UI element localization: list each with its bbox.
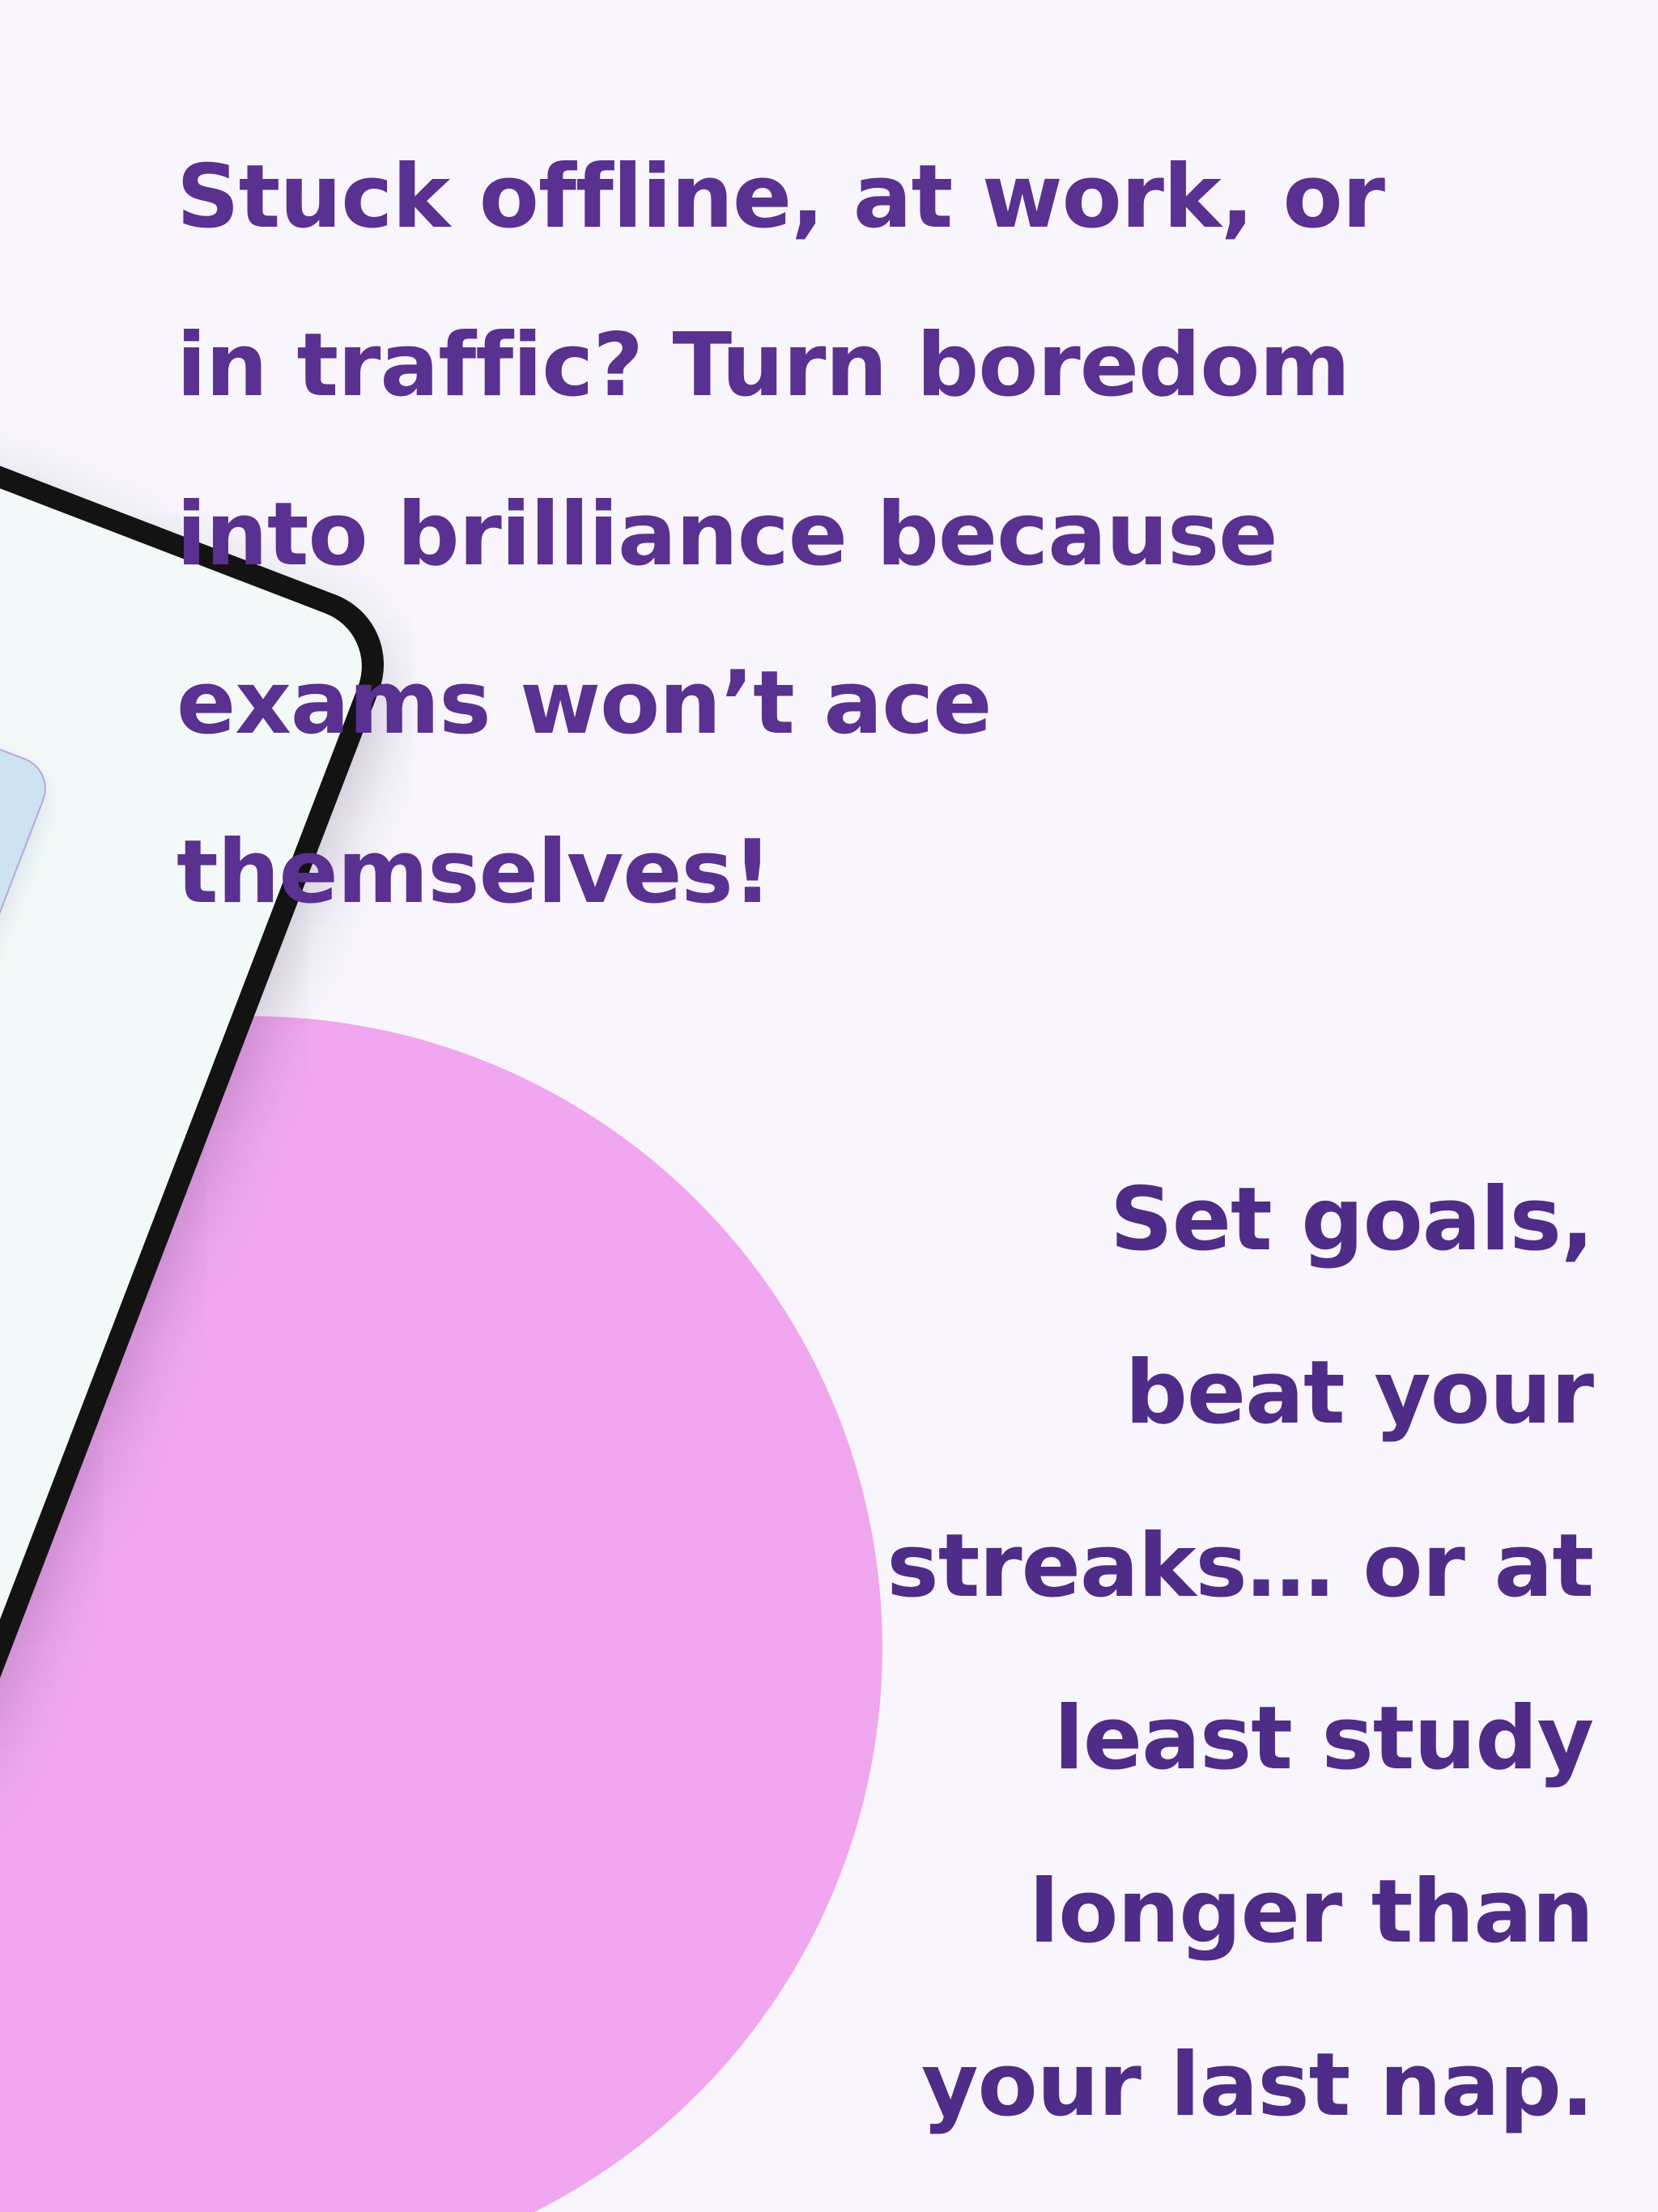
quiz-card[interactable]: Quiz estions	[0, 607, 56, 997]
quiz-card-title: Quiz	[0, 730, 12, 926]
subline-line-5: longer than	[638, 1826, 1593, 1999]
subline-line-2: beat your	[638, 1307, 1593, 1480]
subline-line-6: your last nap.	[638, 1999, 1593, 2172]
headline-line-3: into brilliance because	[176, 451, 1439, 619]
headline-line-5: themselves!	[176, 789, 1439, 957]
subheadline-text: Set goals, beat your streaks… or at leas…	[638, 1134, 1593, 2172]
subline-line-1: Set goals,	[638, 1134, 1593, 1307]
headline-line-2: in traffic? Turn boredom	[176, 282, 1439, 450]
headline-line-4: exams won’t ace	[176, 619, 1439, 788]
subline-line-3: streaks… or at	[638, 1480, 1593, 1653]
headline-text: Stuck offline, at work, or in traffic? T…	[176, 113, 1439, 957]
subline-line-4: least study	[638, 1653, 1593, 1826]
headline-line-1: Stuck offline, at work, or	[176, 113, 1439, 282]
promo-screenshot: Quiz estions Consecutive days 3	[0, 0, 1658, 2212]
